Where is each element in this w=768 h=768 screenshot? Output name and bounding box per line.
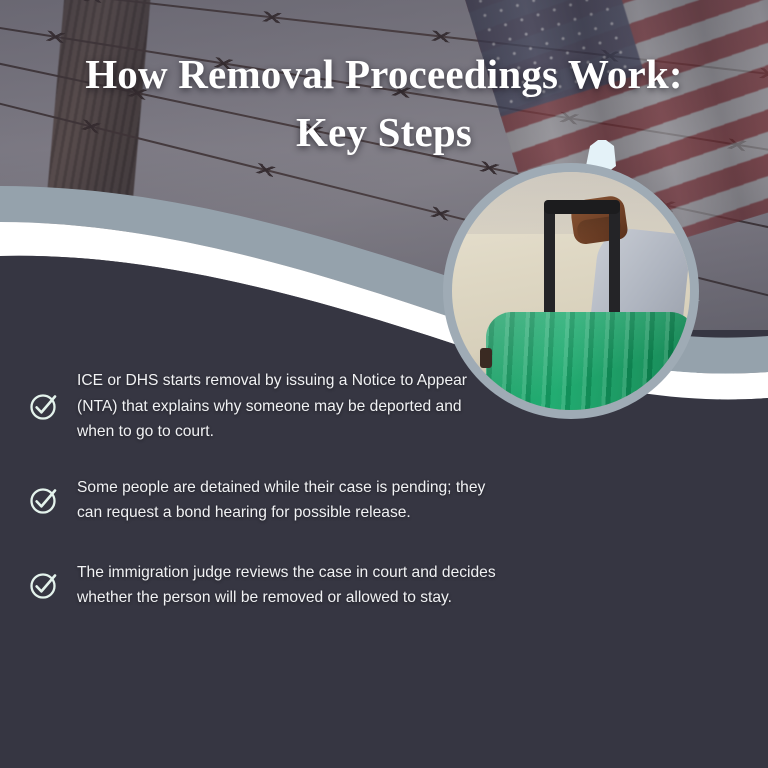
infographic-canvas: How Removal Proceedings Work: Key Steps [0, 0, 768, 768]
check-circle-icon [28, 390, 60, 422]
suitcase-handle-grip [544, 200, 620, 214]
list-item-text: ICE or DHS starts removal by issuing a N… [77, 368, 497, 445]
list-item-text: Some people are detained while their cas… [77, 475, 497, 526]
title-line-1: How Removal Proceedings Work: [85, 51, 683, 97]
list-item: Some people are detained while their cas… [0, 475, 520, 526]
suitcase-handle-left-rod [544, 200, 555, 320]
list-item: ICE or DHS starts removal by issuing a N… [0, 368, 520, 445]
suitcase-handle-right-rod [609, 200, 620, 320]
page-title: How Removal Proceedings Work: Key Steps [0, 45, 768, 161]
list-item-text: The immigration judge reviews the case i… [77, 560, 497, 611]
check-circle-icon [28, 484, 60, 516]
check-circle-icon [28, 569, 60, 601]
list-item: The immigration judge reviews the case i… [0, 560, 520, 611]
steps-list: ICE or DHS starts removal by issuing a N… [0, 368, 520, 611]
title-line-2: Key Steps [0, 103, 768, 161]
suitcase-latch [480, 348, 492, 368]
skyline-notch-details [640, 700, 712, 758]
